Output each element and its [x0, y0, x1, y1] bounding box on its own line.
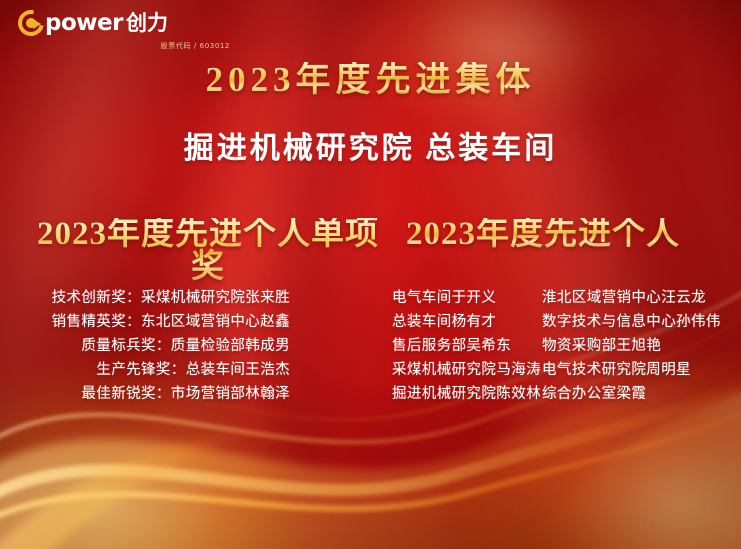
list-item-name-left: 采煤机械研究院马海涛 — [392, 358, 542, 382]
list-item-name-left: 售后服务部吴希东 — [392, 334, 542, 358]
section-heading-special-awards: 2023年度先进个人单项奖 — [22, 218, 394, 284]
list-item: 质量标兵奖：质量检验部韩成男 — [22, 334, 290, 358]
page-title: 2023年度先进集体 — [0, 62, 741, 97]
list-item: 售后服务部吴希东 物资采购部王旭艳 — [392, 334, 722, 358]
list-item: 总装车间杨有才 数字技术与信息中心孙伟伟 — [392, 310, 722, 334]
list-item-name-right: 综合办公室梁霞 — [542, 382, 722, 406]
list-item-name-left: 掘进机械研究院陈效林 — [392, 382, 542, 406]
list-item: 生产先锋奖：总装车间王浩杰 — [22, 358, 290, 382]
page-subtitle: 掘进机械研究院 总装车间 — [0, 134, 741, 164]
list-item-name-right: 淮北区域营销中心汪云龙 — [542, 286, 722, 310]
list-item: 掘进机械研究院陈效林 综合办公室梁霞 — [392, 382, 722, 406]
list-item-name-right: 物资采购部王旭艳 — [542, 334, 722, 358]
section-heading-individual-awards: 2023年度先进个人 — [400, 218, 686, 251]
list-item: 最佳新锐奖：市场营销部林翰泽 — [22, 382, 290, 406]
list-item-name-right: 数字技术与信息中心孙伟伟 — [542, 310, 722, 334]
list-item: 采煤机械研究院马海涛 电气技术研究院周明星 — [392, 358, 722, 382]
individual-awards-list: 电气车间于开义 淮北区域营销中心汪云龙 总装车间杨有才 数字技术与信息中心孙伟伟… — [392, 286, 722, 406]
list-item-name-left: 电气车间于开义 — [392, 286, 542, 310]
list-item: 电气车间于开义 淮北区域营销中心汪云龙 — [392, 286, 722, 310]
list-item-name-right: 电气技术研究院周明星 — [542, 358, 722, 382]
special-awards-list: 技术创新奖：采煤机械研究院张来胜 销售精英奖：东北区域营销中心赵鑫 质量标兵奖：… — [22, 286, 290, 406]
award-poster: power 创力 股票代码 / 603012 2023年度先进集体 掘进机械研究… — [0, 0, 741, 549]
list-item: 技术创新奖：采煤机械研究院张来胜 — [22, 286, 290, 310]
list-item-name-left: 总装车间杨有才 — [392, 310, 542, 334]
list-item: 销售精英奖：东北区域营销中心赵鑫 — [22, 310, 290, 334]
